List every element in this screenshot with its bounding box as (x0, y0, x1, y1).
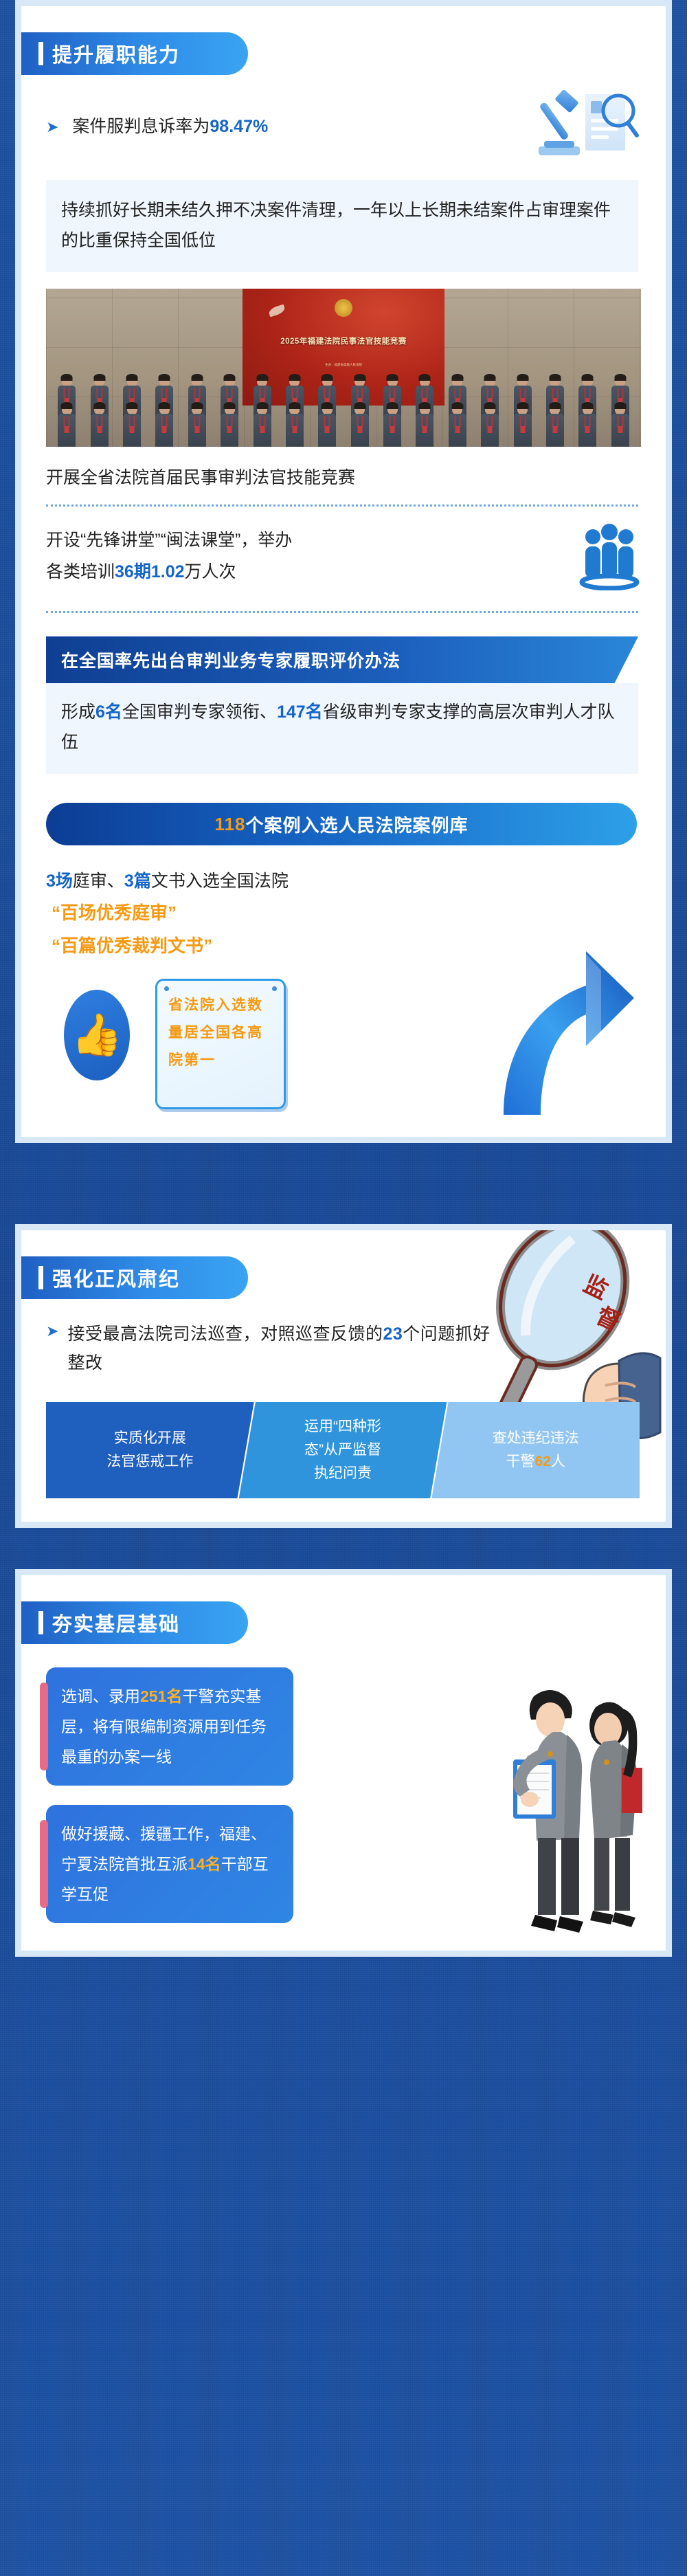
expert-prefix: 形成 (61, 702, 95, 722)
photo-banner-title: 2025年福建法院民事法官技能竞赛 (243, 335, 444, 346)
dotted-divider-2 (46, 611, 638, 613)
case-library-label: 个案例入选人民法院案例库 (245, 812, 468, 837)
trial-mid-2: 文书入选全国法院 (151, 871, 289, 891)
bullet-arrow-icon: ➤ (46, 118, 58, 135)
training-line-2: 各类培训36期1.02万人次 (46, 556, 576, 588)
panel-expert-team: 形成6名全国审判专家领衔、147名省级审判专家支撑的高层次审判人才队伍 (46, 683, 638, 774)
section-inner-discipline: 监 督 强化正风肃纪 ➤ 接受最高法院司法巡查，对照巡查反馈的23个问题抓好整改… (21, 1230, 666, 1522)
banner-expert-evaluation: 在全国率先出台审判业务专家履职评价办法 (46, 636, 638, 683)
discipline-box-2: 运用“四种形 态”从严监督 执纪问责 (239, 1402, 447, 1498)
bullet-text-wrapper: ➤ 案件服判息诉率为98.47% (46, 111, 519, 142)
section-header-grassroots: 夯实基层基础 (21, 1601, 248, 1644)
inspection-text: 接受最高法院司法巡查，对照巡查反馈的23个问题抓好整改 (67, 1320, 508, 1377)
screw-right-icon (272, 986, 277, 991)
discipline-box-1: 实质化开展 法官惩戒工作 (46, 1402, 254, 1498)
training-suffix: 万人次 (185, 562, 236, 581)
bullet-row-inspection: ➤ 接受最高法院司法巡查，对照巡查反馈的23个问题抓好整改 (21, 1299, 666, 1377)
section-card-discipline: 监 督 强化正风肃纪 ➤ 接受最高法院司法巡查，对照巡查反馈的23个问题抓好整改… (15, 1224, 672, 1528)
screw-left-icon (164, 986, 169, 991)
training-line-1: 开设“先锋讲堂”“闽法课堂”，举办 (46, 524, 576, 556)
section-header-capability: 提升履职能力 (21, 32, 248, 75)
sign-card-rank: 省法院入选数 量居全国各高 院第一 (155, 979, 286, 1109)
box1-line2: 法官惩戒工作 (106, 1450, 193, 1474)
section-title: 提升履职能力 (52, 39, 180, 68)
box3-prefix: 干警 (506, 1454, 534, 1469)
training-prefix: 各类培训 (46, 562, 115, 581)
bullet-label: 案件服判息诉率为 (72, 117, 210, 136)
photo-row-front (58, 403, 629, 447)
discipline-box-3: 查处违纪违法 干警62人 (431, 1402, 640, 1498)
recruitment-prefix: 选调、录用 (61, 1687, 140, 1705)
section-title: 夯实基层基础 (52, 1608, 180, 1637)
box2-line2: 态”从严监督 (304, 1439, 381, 1462)
header-accent-bar (38, 1611, 43, 1634)
gavel-document-magnifier-icon (519, 90, 640, 162)
thumbs-up-glyph: 👍 (71, 1014, 123, 1056)
paragraph-long-pending-cases: 持续抓好长期未结久押不决案件清理，一年以上长期未结案件占审理案件的比重保持全国低… (46, 180, 638, 272)
training-row: 开设“先锋讲堂”“闽法课堂”，举办 各类培训36期1.02万人次 (21, 507, 666, 590)
box1-line1: 实质化开展 (106, 1427, 193, 1450)
box3-line1: 查处违纪违法 (493, 1427, 579, 1450)
box2-line3: 执纪问责 (304, 1462, 381, 1485)
people-group-icon (576, 522, 642, 590)
expert-mid: 全国审判专家领衔、 (122, 702, 277, 722)
provincial-experts-value: 147名 (277, 702, 323, 722)
sign-line-1: 省法院入选数 (168, 992, 275, 1019)
section-gap-2 (0, 1528, 687, 1569)
punished-officers-count: 62 (534, 1454, 550, 1469)
section-header-discipline: 强化正风肃纪 (21, 1256, 248, 1299)
sign-line-3: 院第一 (168, 1047, 275, 1074)
court-emblem-icon (335, 299, 352, 317)
quote-block-trials: 3场庭审、3篇文书入选全国法院 “百场优秀庭审” “百篇优秀裁判文书” (21, 845, 666, 962)
national-experts-value: 6名 (95, 702, 122, 722)
award-quote-1: “百场优秀庭审” (46, 896, 641, 929)
case-count-value: 118 (215, 814, 246, 835)
two-officers-walking-icon (480, 1658, 652, 1946)
inspection-prefix: 接受最高法院司法巡查，对照巡查反馈的 (67, 1324, 383, 1344)
bullet-arrow-icon: ➤ (46, 1320, 58, 1343)
photo-caption: 开展全省法院首届民事审判法官技能竞赛 (21, 447, 666, 491)
photo-skills-competition: 2025年福建法院民事法官技能竞赛 主办：福建省高级人民法院 (46, 289, 641, 447)
header-accent-bar (38, 1266, 43, 1289)
recruited-officers-count: 251名 (140, 1687, 182, 1705)
section-inner-capability: 提升履职能力 ➤ 案件服判息诉率为98.47% (21, 6, 666, 1137)
training-sessions-unit: 期 (134, 562, 151, 581)
trial-count-value: 3场 (46, 871, 73, 891)
training-attendance-value: 1.02 (151, 562, 185, 581)
award-quote-2: “百篇优秀裁判文书” (46, 929, 641, 962)
exchanged-cadres-count: 14名 (188, 1855, 221, 1873)
trials-line: 3场庭审、3篇文书入选全国法院 (46, 866, 641, 896)
training-sessions-value: 36 (115, 562, 134, 581)
box3-suffix: 人 (551, 1454, 565, 1469)
thumbs-up-icon: 👍 (64, 990, 130, 1080)
settlement-rate-value: 98.47% (210, 117, 268, 136)
box2-line1: 运用“四种形 (304, 1415, 381, 1439)
trial-mid-1: 庭审、 (73, 871, 124, 891)
section-gap-1 (0, 1143, 687, 1224)
panel-aid-exchange: 做好援藏、援疆工作，福建、宁夏法院首批互派14名干部互学互促 (46, 1805, 293, 1923)
dove-icon (268, 304, 286, 317)
photo-people-group (46, 364, 641, 447)
document-count-value: 3篇 (124, 871, 151, 891)
box3-line2: 干警62人 (493, 1450, 579, 1474)
panel-recruitment: 选调、录用251名干警充实基层，将有限编制资源用到任务最重的办案一线 (46, 1667, 293, 1786)
thumb-sign-area: 👍 省法院入选数 量居全国各高 院第一 (21, 975, 666, 1119)
banner-case-library: 118个案例入选人民法院案例库 (46, 803, 637, 845)
header-accent-bar (38, 42, 43, 65)
section-inner-grassroots: 夯实基层基础 选调、录用251名干警充实基层，将有限编制资源用到任务最重的办案一… (21, 1575, 666, 1951)
bullet-row-settlement-rate: ➤ 案件服判息诉率为98.47% (21, 75, 666, 162)
inspection-issue-count: 23 (383, 1324, 403, 1344)
section-card-capability: 提升履职能力 ➤ 案件服判息诉率为98.47% (15, 0, 672, 1143)
discipline-boxes: 实质化开展 法官惩戒工作 运用“四种形 态”从严监督 执纪问责 查处违纪违法 干… (46, 1402, 640, 1498)
training-text: 开设“先锋讲堂”“闽法课堂”，举办 各类培训36期1.02万人次 (46, 524, 576, 588)
section-title: 强化正风肃纪 (52, 1263, 180, 1292)
sign-line-2: 量居全国各高 (168, 1019, 275, 1047)
section-card-grassroots: 夯实基层基础 选调、录用251名干警充实基层，将有限编制资源用到任务最重的办案一… (15, 1569, 672, 1957)
